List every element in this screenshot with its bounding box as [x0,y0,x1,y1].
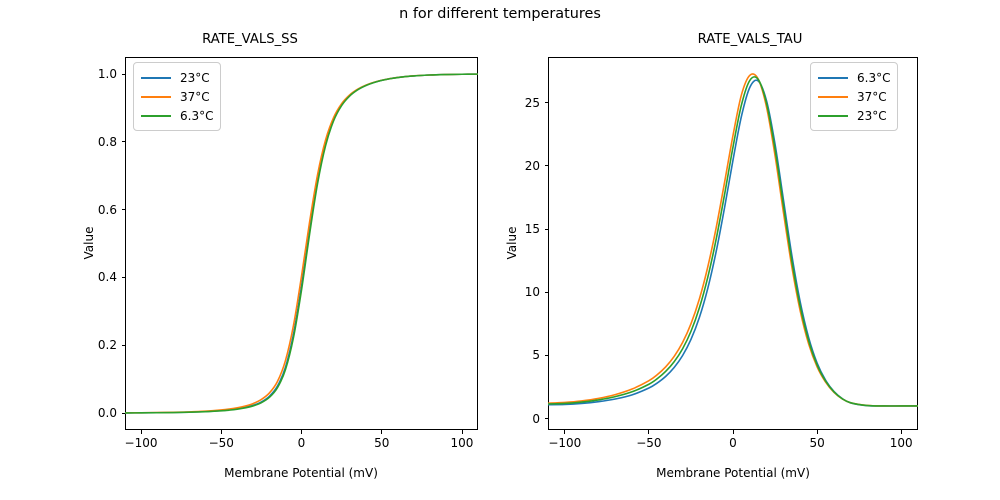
x-tick-label: 0 [729,436,737,450]
y-tick-mark [545,165,549,166]
x-tick-mark [733,430,734,434]
x-tick-mark [648,430,649,434]
axes-right-xlabel: Membrane Potential (mV) [656,466,810,480]
x-tick-label: 50 [809,436,824,450]
legend-line-swatch [818,96,848,98]
legend-label: 6.3°C [857,71,890,85]
axes-right-ylabel: Value [505,227,519,260]
x-tick-label: −50 [636,436,661,450]
x-tick-mark [817,430,818,434]
x-tick-label: −100 [548,436,581,450]
legend-label: 37°C [857,90,887,104]
legend-entry[interactable]: 23°C [818,106,890,125]
y-tick-mark [545,229,549,230]
y-tick-label: 5 [488,348,540,362]
y-tick-mark [545,102,549,103]
y-tick-label: 0 [488,412,540,426]
x-tick-mark [564,430,565,434]
legend-line-swatch [818,115,848,117]
x-tick-label: 100 [890,436,913,450]
y-tick-label: 10 [488,285,540,299]
legend-entry[interactable]: 37°C [818,87,890,106]
legend-entry[interactable]: 6.3°C [818,68,890,87]
legend-label: 23°C [857,109,887,123]
y-tick-label: 20 [488,159,540,173]
y-tick-mark [545,355,549,356]
axes-rate-vals-tau: RATE_VALS_TAU −100−500501000510152025 Me… [0,0,1000,500]
y-tick-mark [545,292,549,293]
legend-line-swatch [818,77,848,79]
axes-right-legend[interactable]: 6.3°C37°C23°C [810,62,898,131]
x-tick-mark [901,430,902,434]
matplotlib-figure: n for different temperatures RATE_VALS_S… [0,0,1000,500]
y-tick-mark [545,418,549,419]
y-tick-label: 25 [488,96,540,110]
